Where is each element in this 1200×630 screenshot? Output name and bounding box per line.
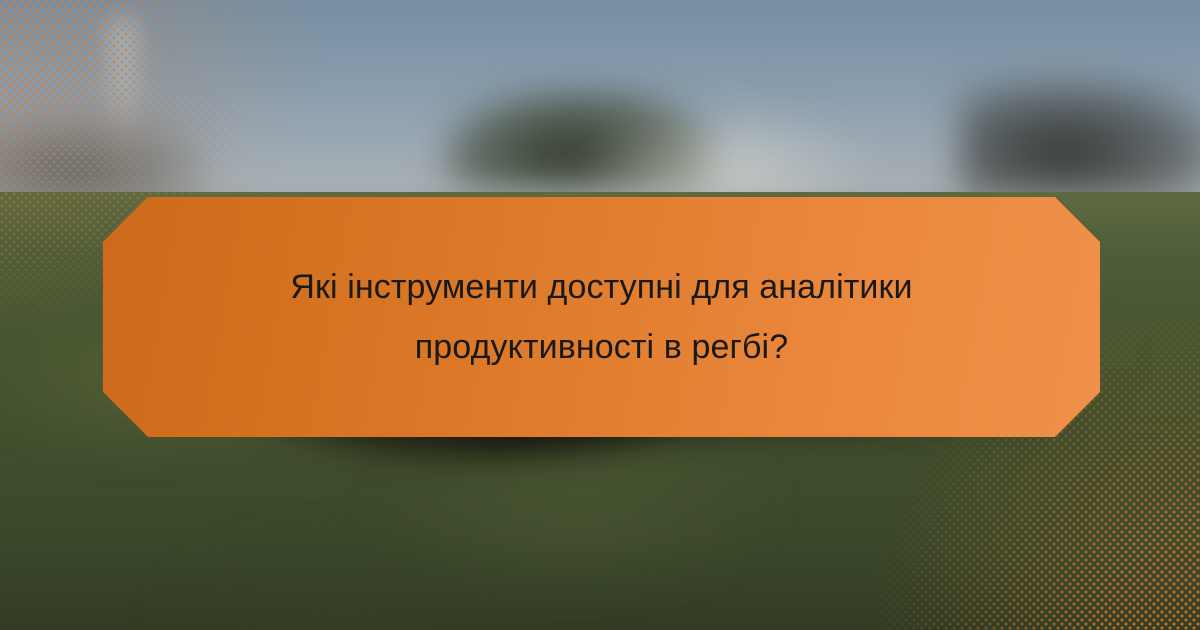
question-line-1: Які інструменти доступні для аналітики	[290, 268, 912, 306]
question-card: Які інструменти доступні для аналітики п…	[103, 197, 1100, 437]
question-title: Які інструменти доступні для аналітики п…	[232, 257, 972, 377]
right-tree-silhouette-blur	[960, 80, 1200, 200]
screenshot-canvas: Які інструменти доступні для аналітики п…	[0, 0, 1200, 630]
question-line-2: продуктивності в регбі?	[415, 328, 788, 366]
